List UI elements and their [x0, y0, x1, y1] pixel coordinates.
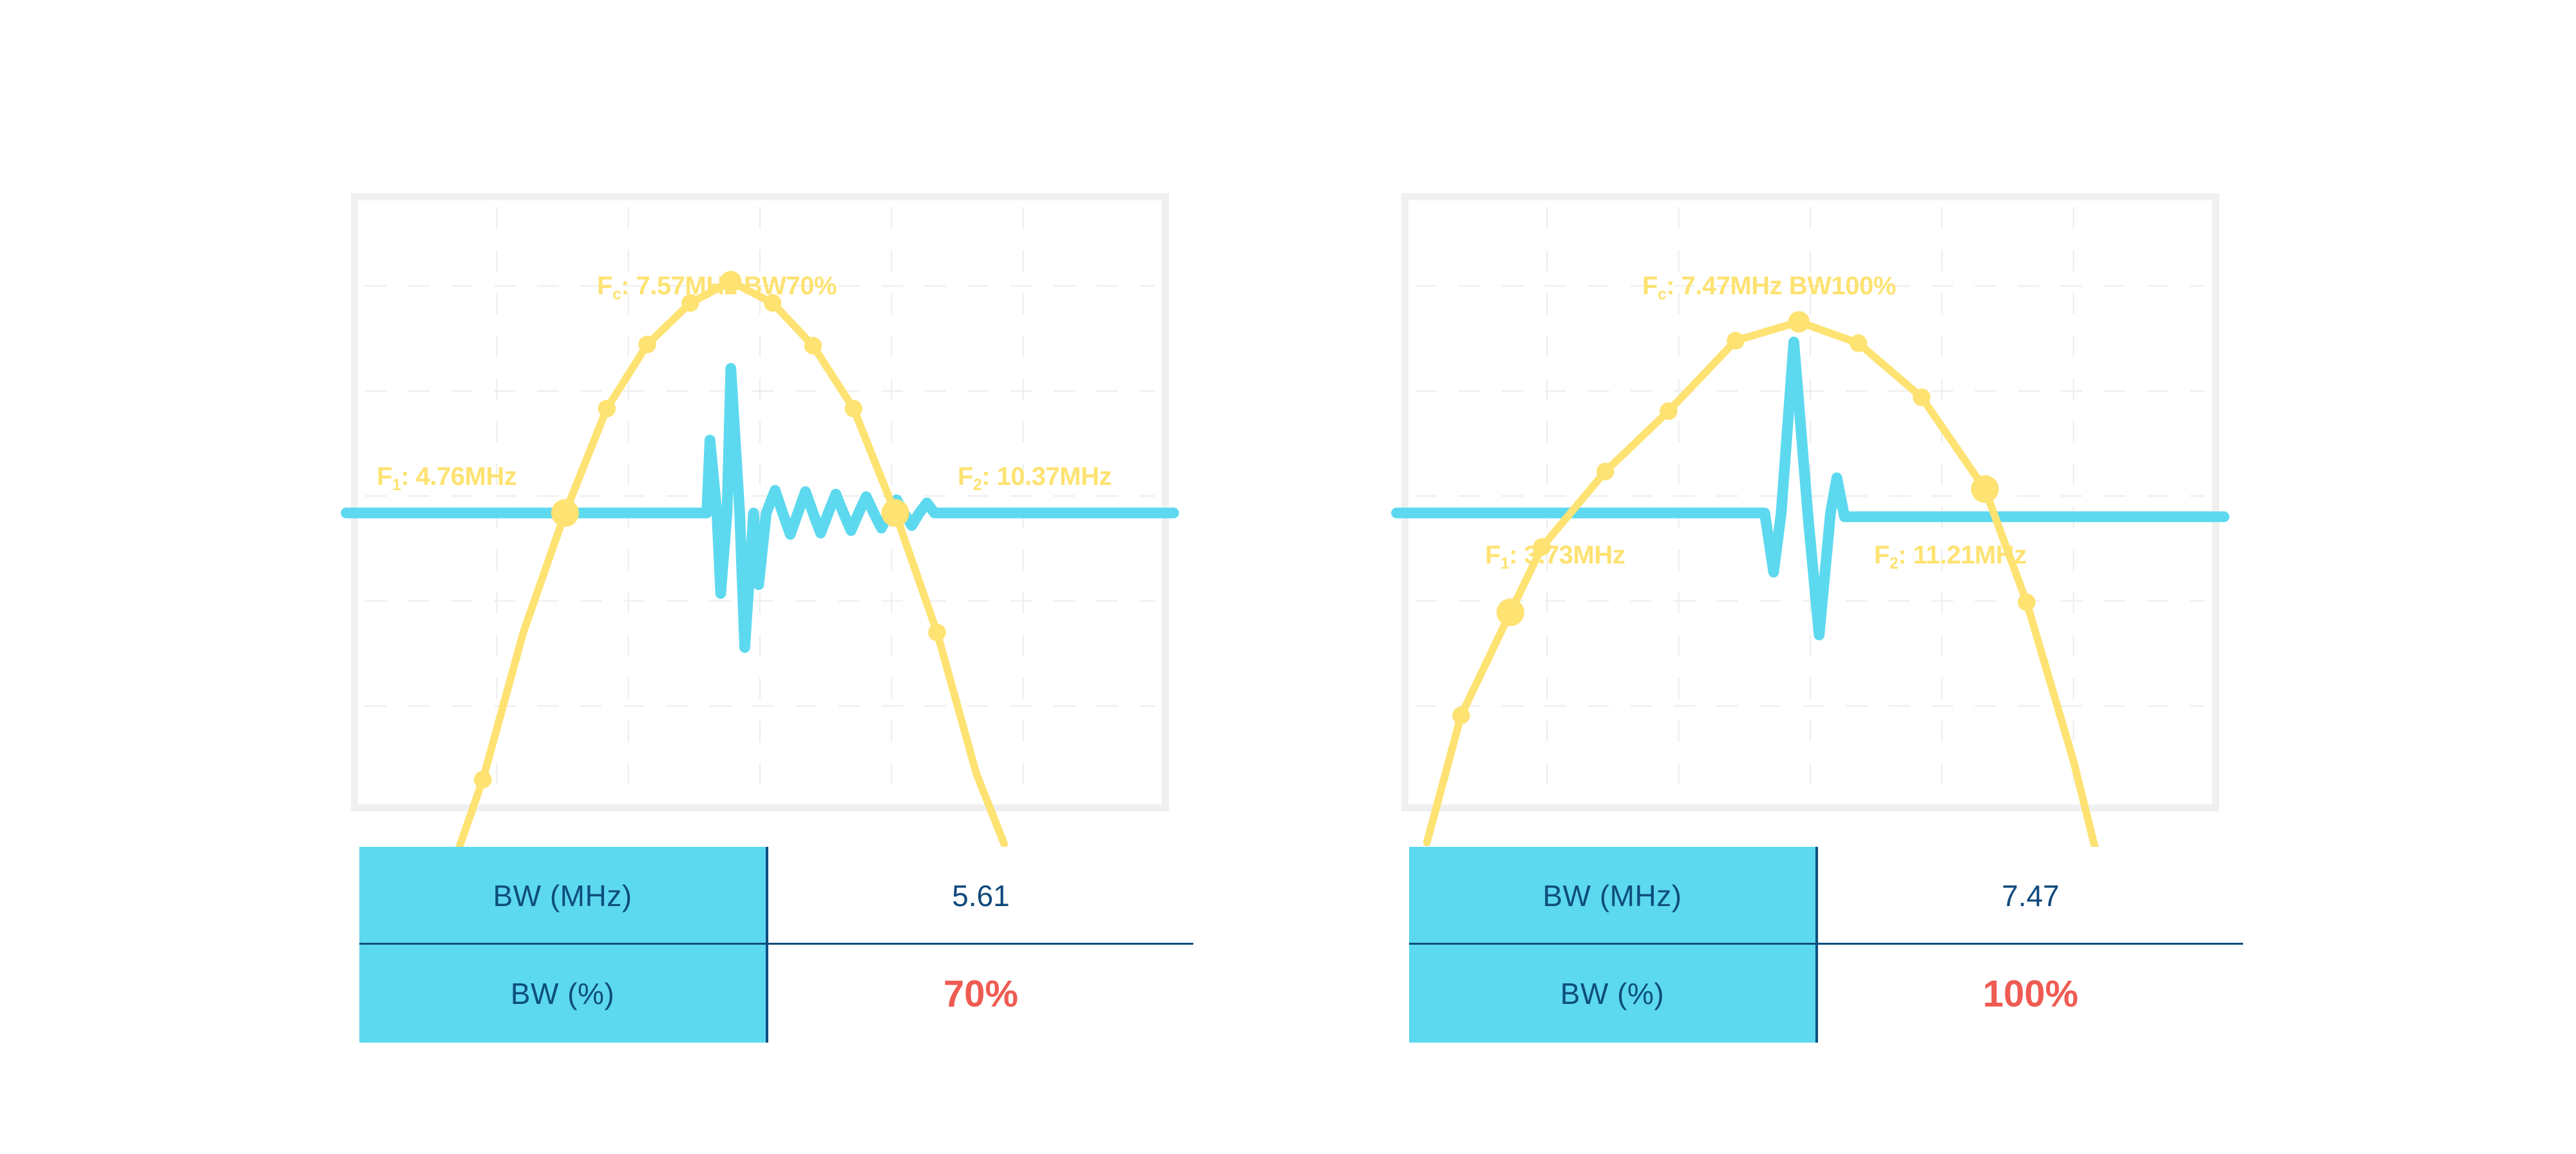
annotation-f2-text-bw100: : 11.21MHz	[1898, 541, 2027, 569]
panel-bw100: Fc: 7.47MHz BW100% F1: 3.73MHz F2: 11.21…	[1401, 193, 2219, 811]
bw-pct-label-bw70: BW (%)	[359, 945, 768, 1043]
annotation-f2-sub-bw100: 2	[1889, 555, 1898, 572]
bw-mhz-label-bw100: BW (MHz)	[1409, 847, 1818, 945]
plot-area-bw100: Fc: 7.47MHz BW100% F1: 3.73MHz F2: 11.21…	[1416, 207, 2205, 797]
annotation-f1-sub-bw100: 1	[1501, 555, 1509, 572]
bw-mhz-value-bw100: 7.47	[1818, 847, 2243, 945]
bw-mhz-value-bw70: 5.61	[768, 847, 1193, 945]
spectrum-markers-bw100	[1452, 311, 2109, 876]
annotation-f2-prefix-bw100: F	[1874, 541, 1889, 569]
bw-pct-value-bw70: 70%	[768, 945, 1193, 1043]
annotation-center-bw100: Fc: 7.47MHz BW100%	[1642, 272, 1896, 304]
plot-area-bw70: Fc: 7.57MHz BW70% F1: 4.76MHz F2: 10.37M…	[365, 207, 1155, 797]
annotation-f1-bw70: F1: 4.76MHz	[377, 462, 516, 495]
annotation-f1-bw100: F1: 3.73MHz	[1485, 541, 1625, 573]
bw-table-bw70: BW (MHz) 5.61 BW (%) 70%	[359, 847, 1193, 1043]
plot-frame-bw70: Fc: 7.57MHz BW70% F1: 4.76MHz F2: 10.37M…	[351, 193, 1169, 811]
figure-root: Fc: 7.57MHz BW70% F1: 4.76MHz F2: 10.37M…	[0, 0, 2576, 1154]
pulse-waveform-bw70	[346, 368, 1174, 648]
annotation-f1-text-bw70: : 4.76MHz	[401, 462, 516, 491]
spectrum-markers-bw70	[474, 271, 946, 789]
bw-table-bw100: BW (MHz) 7.47 BW (%) 100%	[1409, 847, 2243, 1043]
bw-pct-value-bw100: 100%	[1818, 945, 2243, 1043]
spectrum-curve-bw100	[1427, 322, 2100, 868]
table-row: BW (%) 70%	[359, 945, 1193, 1043]
annotation-center-sub-bw100: c	[1658, 286, 1666, 303]
plot-frame-bw100: Fc: 7.47MHz BW100% F1: 3.73MHz F2: 11.21…	[1401, 193, 2219, 811]
annotation-f2-sub-bw70: 2	[973, 477, 981, 494]
bw-mhz-label-bw70: BW (MHz)	[359, 847, 768, 945]
annotation-f1-text-bw100: : 3.73MHz	[1509, 541, 1625, 569]
annotation-f2-text-bw70: : 10.37MHz	[981, 462, 1112, 491]
bw-pct-label-bw100: BW (%)	[1409, 945, 1818, 1043]
annotation-center-text-bw100: : 7.47MHz BW100%	[1666, 272, 1896, 300]
table-row: BW (MHz) 5.61	[359, 847, 1193, 945]
annotation-center-text-bw70: : 7.57MHz BW70%	[621, 272, 837, 300]
annotation-center-prefix-bw100: F	[1642, 272, 1658, 300]
annotation-f1-prefix-bw100: F	[1485, 541, 1501, 569]
annotation-f1-sub-bw70: 1	[392, 477, 401, 494]
annotation-f2-bw100: F2: 11.21MHz	[1874, 541, 2027, 573]
annotation-f2-prefix-bw70: F	[958, 462, 973, 491]
annotation-center-bw70: Fc: 7.57MHz BW70%	[597, 272, 837, 304]
table-row: BW (MHz) 7.47	[1409, 847, 2243, 945]
annotation-center-sub-bw70: c	[612, 286, 621, 303]
annotation-f1-prefix-bw70: F	[377, 462, 392, 491]
annotation-center-prefix-bw70: F	[597, 272, 612, 300]
table-row: BW (%) 100%	[1409, 945, 2243, 1043]
annotation-f2-bw70: F2: 10.37MHz	[958, 462, 1112, 495]
panel-bw70: Fc: 7.57MHz BW70% F1: 4.76MHz F2: 10.37M…	[351, 193, 1169, 811]
